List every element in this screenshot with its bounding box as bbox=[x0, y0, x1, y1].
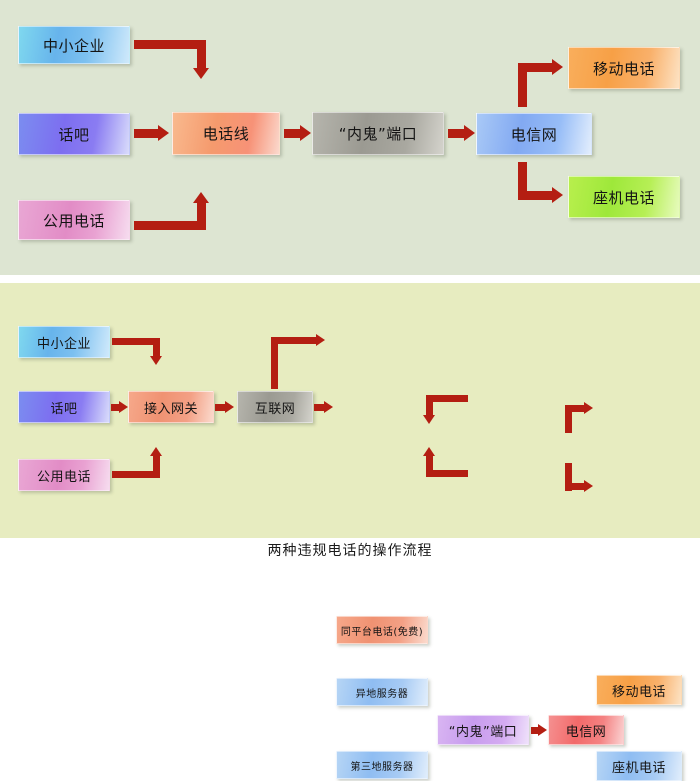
node-telecom-network-2: 电信网 bbox=[548, 715, 624, 745]
node-sme: 中小企业 bbox=[18, 26, 130, 64]
figure-caption: 两种违规电话的操作流程 bbox=[0, 540, 700, 560]
node-insider-port-2: “内鬼”端口 bbox=[437, 715, 529, 745]
node-phoneline: 电话线 bbox=[172, 112, 280, 155]
diagram-bottom-panel: 中小企业 话吧 公用电话 接入网关 互联网 同平台电话(免费) 异地服务器 第三… bbox=[0, 283, 700, 538]
node-payphone-2: 公用电话 bbox=[18, 459, 110, 491]
node-same-platform-call: 同平台电话(免费) bbox=[336, 616, 428, 644]
node-mobile-phone: 移动电话 bbox=[568, 47, 680, 89]
node-payphone: 公用电话 bbox=[18, 200, 130, 240]
node-insider-port: “内鬼”端口 bbox=[312, 112, 444, 155]
node-huaba-2: 话吧 bbox=[18, 391, 110, 423]
node-huaba: 话吧 bbox=[18, 113, 130, 155]
node-landline-phone: 座机电话 bbox=[568, 176, 680, 218]
node-access-gateway: 接入网关 bbox=[128, 391, 214, 423]
node-internet: 互联网 bbox=[237, 391, 313, 423]
node-landline-phone-2: 座机电话 bbox=[596, 751, 682, 781]
diagram-top-panel: 中小企业 话吧 公用电话 电话线 “内鬼”端口 电信网 移动电话 座机电话 bbox=[0, 0, 700, 275]
node-mobile-phone-2: 移动电话 bbox=[596, 675, 682, 705]
figure-root: 中小企业 话吧 公用电话 电话线 “内鬼”端口 电信网 移动电话 座机电话 bbox=[0, 0, 700, 563]
node-remote-server: 异地服务器 bbox=[336, 678, 428, 706]
node-telecom-network: 电信网 bbox=[476, 113, 592, 155]
node-third-location-server: 第三地服务器 bbox=[336, 751, 428, 779]
node-sme-2: 中小企业 bbox=[18, 326, 110, 358]
